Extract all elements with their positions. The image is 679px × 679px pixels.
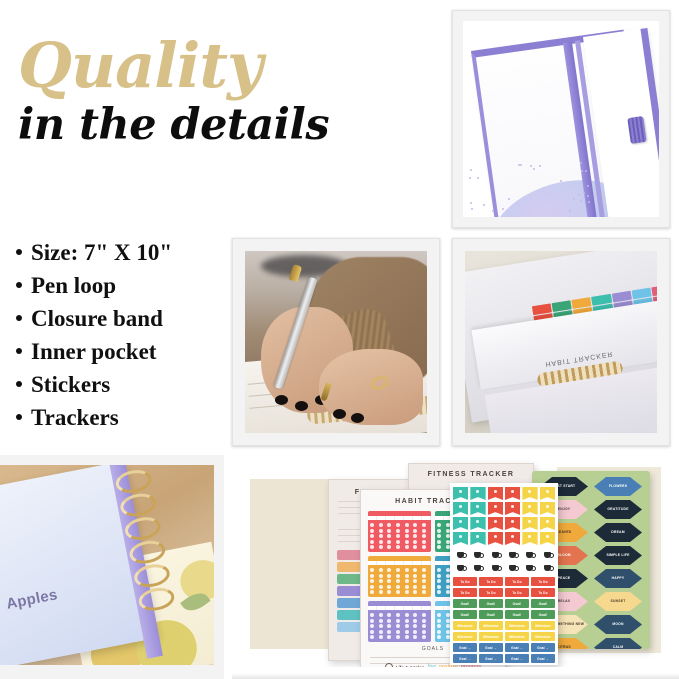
- banner-stickers: [453, 487, 555, 545]
- planner-pages-panel: FITNESS GOALS MOTIVATION MEASUREMENTS Li…: [232, 455, 679, 679]
- banner-sticker: [522, 487, 537, 500]
- label-sticker: Goal →: [479, 643, 503, 652]
- cover-sparkle: [585, 170, 587, 172]
- banner-sticker: [540, 517, 555, 530]
- label-sticker: To Do: [505, 588, 529, 597]
- feature-label: Closure band: [31, 302, 163, 335]
- feature-label: Pen loop: [31, 269, 116, 302]
- tagline-word-1: live: [427, 664, 436, 667]
- brand-name: Life & Apples: [396, 665, 425, 668]
- coffee-cup-sticker: [505, 549, 520, 560]
- habit-dot-grid: [368, 520, 431, 552]
- label-sticker: Goal →: [479, 654, 503, 663]
- hexagon-sticker: HAPPY: [594, 569, 642, 588]
- coffee-cup-sticker: [470, 562, 485, 573]
- coffee-cup-sticker: [540, 562, 555, 573]
- label-sticker: Goal!: [453, 610, 477, 619]
- label-sticker: Milestone: [453, 621, 477, 630]
- hexagon-sticker: FLOWERS: [594, 477, 642, 496]
- cover-sparkle: [587, 195, 589, 197]
- label-sticker: To Do: [479, 577, 503, 586]
- banner-sticker: [470, 517, 485, 530]
- label-sticker: Milestone: [453, 632, 477, 641]
- cup-stickers: [453, 549, 555, 573]
- hexagon-sticker: GRATITUDE: [594, 500, 642, 519]
- banner-sticker: [522, 517, 537, 530]
- habit-day-row: [368, 606, 431, 610]
- bullet-dot: [16, 249, 22, 255]
- hexagon-sticker: SIMPLE LIFE: [594, 546, 642, 565]
- cover-sparkle: [581, 170, 583, 172]
- cover-sparkle: [470, 202, 472, 204]
- cover-sparkle: [539, 165, 541, 167]
- coffee-cup-sticker: [488, 549, 503, 560]
- coffee-cup-sticker: [505, 562, 520, 573]
- label-sticker: Goal →: [531, 654, 555, 663]
- hexagon-sticker: CALM: [594, 638, 642, 649]
- banner-sticker: [505, 517, 520, 530]
- label-sticker: Goal!: [479, 599, 503, 608]
- label-sticker: Goal →: [453, 643, 477, 652]
- banner-sticker: [470, 532, 485, 545]
- banner-sticker: [470, 502, 485, 515]
- bullet-dot: [16, 282, 22, 288]
- label-sticker: Goal →: [531, 643, 555, 652]
- coffee-cup-sticker: [488, 562, 503, 573]
- feature-item: Pen loop: [16, 269, 172, 302]
- apples-notebook-photo: Apples: [0, 455, 224, 679]
- feature-item: Closure band: [16, 302, 172, 335]
- label-sticker: Milestone: [479, 621, 503, 630]
- feature-item: Inner pocket: [16, 335, 172, 368]
- cover-sparkle: [588, 201, 590, 203]
- coffee-cup-sticker: [453, 562, 468, 573]
- headline-line-1: Quality: [18, 34, 418, 98]
- inner-pocket-photo: HABIT TRACKER: [452, 238, 670, 446]
- feature-list: Size: 7" X 10"Pen loopClosure bandInner …: [16, 236, 172, 434]
- habit-day-row: [368, 561, 431, 565]
- banner-sticker: [488, 487, 503, 500]
- banner-sticker: [505, 532, 520, 545]
- banner-sticker: [522, 502, 537, 515]
- label-sticker: Goal →: [453, 654, 477, 663]
- coffee-cup-sticker: [540, 549, 555, 560]
- cover-sparkle: [469, 177, 471, 179]
- label-sticker: To Do: [479, 588, 503, 597]
- banner-sticker: [453, 502, 468, 515]
- banner-sticker: [505, 502, 520, 515]
- cover-sparkle: [587, 185, 589, 187]
- habit-day-row: [368, 516, 431, 520]
- hexagon-sticker: MOON: [594, 615, 642, 634]
- purple-notebook-photo: [452, 10, 670, 228]
- cover-sparkle: [580, 162, 582, 164]
- cover-sparkle: [471, 208, 473, 210]
- sticker-cell: [651, 284, 657, 296]
- fitness-tracker-title: FITNESS TRACKER: [409, 471, 533, 478]
- bullet-dot: [16, 381, 22, 387]
- label-sticker: Goal!: [505, 610, 529, 619]
- cover-sparkle: [483, 204, 485, 206]
- bullet-dot: [16, 315, 22, 321]
- label-sticker: Goal!: [479, 610, 503, 619]
- label-sticker: Milestone: [505, 632, 529, 641]
- feature-label: Inner pocket: [31, 335, 156, 368]
- pen-loop: [627, 116, 646, 144]
- label-sticker: Goal →: [505, 654, 529, 663]
- feature-item: Stickers: [16, 368, 172, 401]
- label-sticker: To Do: [453, 577, 477, 586]
- cover-sparkle: [477, 177, 479, 179]
- label-sticker: Goal!: [453, 599, 477, 608]
- coffee-cup-sticker: [522, 549, 537, 560]
- banner-sticker: [540, 502, 555, 515]
- banner-sticker: [453, 532, 468, 545]
- label-sticker: To Do: [531, 577, 555, 586]
- label-sticker: To Do: [505, 577, 529, 586]
- banner-sticker: [470, 487, 485, 500]
- label-sticker: Goal!: [505, 599, 529, 608]
- label-sticker-sheet: To DoTo DoTo DoTo DoTo DoTo DoTo DoTo Do…: [450, 483, 558, 665]
- bullet-dot: [16, 414, 22, 420]
- coffee-cup-sticker: [470, 549, 485, 560]
- banner-sticker: [540, 487, 555, 500]
- label-sticker: Goal →: [505, 643, 529, 652]
- habit-dot-grid: [368, 610, 431, 642]
- habit-block: [368, 556, 431, 597]
- headline-line-2: in the details: [18, 100, 418, 150]
- banner-sticker: [505, 487, 520, 500]
- label-sticker: Goal!: [531, 610, 555, 619]
- banner-sticker: [453, 517, 468, 530]
- right-hand: [319, 349, 423, 425]
- feature-label: Size: 7" X 10": [31, 236, 172, 269]
- cover-sparkle: [560, 180, 562, 182]
- text-label-stickers: To DoTo DoTo DoTo DoTo DoTo DoTo DoTo Do…: [453, 577, 555, 665]
- banner-sticker: [522, 532, 537, 545]
- label-sticker: To Do: [453, 588, 477, 597]
- banner-sticker: [453, 487, 468, 500]
- feature-item: Size: 7" X 10": [16, 236, 172, 269]
- feature-label: Stickers: [31, 368, 110, 401]
- hexagon-sticker: SUNSET: [594, 592, 642, 611]
- label-sticker: Milestone: [505, 621, 529, 630]
- habit-block: [368, 601, 431, 642]
- headline: Quality in the details: [18, 34, 418, 150]
- hands-writing-photo: [232, 238, 440, 446]
- habit-block: [368, 511, 431, 552]
- label-sticker: Milestone: [531, 632, 555, 641]
- label-sticker: To Do: [531, 588, 555, 597]
- habit-dot-grid: [368, 565, 431, 597]
- cover-sparkle: [470, 169, 472, 171]
- feature-item: Trackers: [16, 401, 172, 434]
- text-block: Quality in the details Size: 7" X 10"Pen…: [0, 0, 232, 455]
- logo-mark: [385, 663, 393, 667]
- feature-label: Trackers: [31, 401, 119, 434]
- banner-sticker: [488, 502, 503, 515]
- label-sticker: Milestone: [531, 621, 555, 630]
- banner-sticker: [488, 532, 503, 545]
- coffee-cup-sticker: [522, 562, 537, 573]
- bullet-dot: [16, 348, 22, 354]
- banner-sticker: [540, 532, 555, 545]
- product-infographic: Quality in the details Size: 7" X 10"Pen…: [0, 0, 679, 679]
- coffee-cup-sticker: [453, 549, 468, 560]
- banner-sticker: [488, 517, 503, 530]
- label-sticker: Goal!: [531, 599, 555, 608]
- hexagon-sticker: DREAM: [594, 523, 642, 542]
- label-sticker: Milestone: [479, 632, 503, 641]
